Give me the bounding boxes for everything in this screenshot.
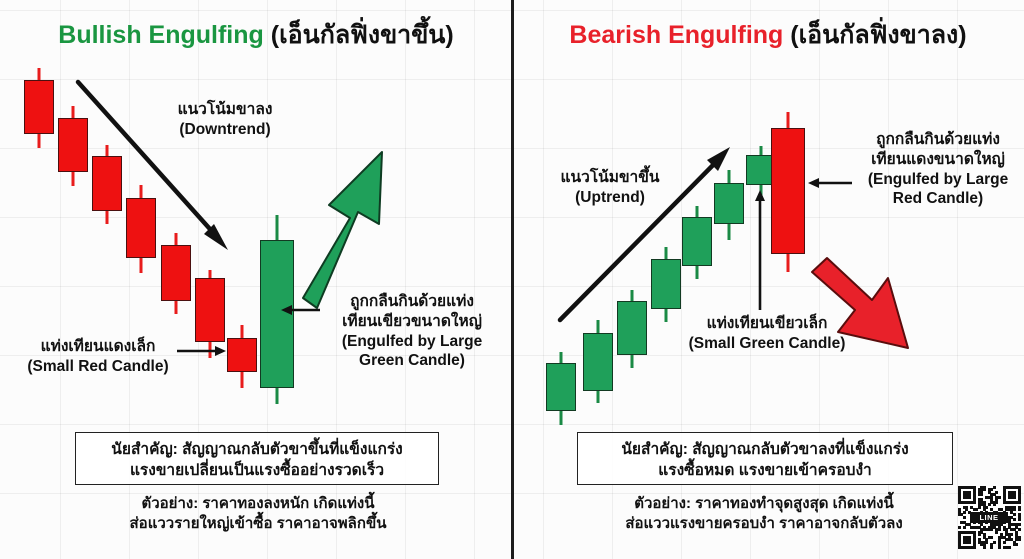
qr-module <box>973 501 976 504</box>
qr-module <box>1008 546 1011 549</box>
qr-module <box>1015 543 1018 546</box>
infographic-canvas: Bullish Engulfing (เอ็นกัลฟิ่งขาขึ้น) <box>0 0 1024 559</box>
qr-module <box>980 493 983 496</box>
qr-module <box>1018 518 1021 521</box>
qr-module <box>975 508 978 511</box>
qr-module <box>993 503 996 506</box>
qr-module <box>1018 538 1021 541</box>
qr-module <box>968 541 971 544</box>
qr-module <box>978 533 981 536</box>
qr-module <box>963 516 966 519</box>
qr-module <box>983 546 986 549</box>
qr-module <box>1003 541 1006 544</box>
small-red-candle-label: แท่งเทียนแดงเล็ก (Small Red Candle) <box>18 337 178 377</box>
small-red-candle-pointer-arrow-icon <box>177 346 226 356</box>
qr-module <box>990 536 993 539</box>
qr-module <box>1018 501 1021 504</box>
uptrend-label: แนวโน้มขาขึ้น (Uptrend) <box>530 168 690 208</box>
qr-module <box>973 546 976 549</box>
bullish-significance-callout: นัยสำคัญ: สัญญาณกลับตัวขาขึ้นที่แข็งแกร่… <box>75 432 439 485</box>
line-qr-code[interactable]: LINE <box>958 486 1020 556</box>
engulf-pointer-arrow-icon <box>808 178 852 188</box>
bearish-significance-callout: นัยสำคัญ: สัญญาณกลับตัวขาลงที่แข็งแกร่ง … <box>577 432 953 485</box>
bearish-example-text: ตัวอย่าง: ราคาทองทำจุดสูงสุด เกิดแท่งนี้… <box>568 494 960 535</box>
small-green-candle-label: แท่งเทียนเขียวเล็ก (Small Green Candle) <box>672 314 862 354</box>
engulfed-green-label: ถูกกลืนกินด้วยแท่ง เทียนเขียวขนาดใหญ่ (E… <box>322 292 502 371</box>
qr-module <box>1018 508 1021 511</box>
qr-module <box>968 496 971 499</box>
engulfed-red-label: ถูกกลืนกินด้วยแท่ง เทียนแดงขนาดใหญ่ (Eng… <box>852 130 1024 209</box>
panel-bullish-engulfing: Bullish Engulfing (เอ็นกัลฟิ่งขาขึ้น) <box>0 0 512 559</box>
qr-module <box>1013 496 1016 499</box>
qr-module <box>1013 518 1016 521</box>
qr-module <box>998 546 1001 549</box>
downtrend-label: แนวโน้มขาลง (Downtrend) <box>150 100 300 140</box>
bullish-big-arrow-icon <box>303 152 382 308</box>
small-green-candle-pointer-arrow-icon <box>755 190 765 310</box>
qr-module <box>990 546 993 549</box>
qr-module <box>990 528 993 531</box>
qr-module <box>963 526 966 529</box>
bullish-example-text: ตัวอย่าง: ราคาทองลงหนัก เกิดแท่งนี้ ส่อแ… <box>70 494 446 535</box>
qr-module <box>958 526 961 529</box>
qr-line-label: LINE <box>970 512 1008 523</box>
qr-module <box>995 531 998 534</box>
panel-bearish-engulfing: Bearish Engulfing (เอ็นกัลฟิ่งขาลง) <box>512 0 1024 559</box>
